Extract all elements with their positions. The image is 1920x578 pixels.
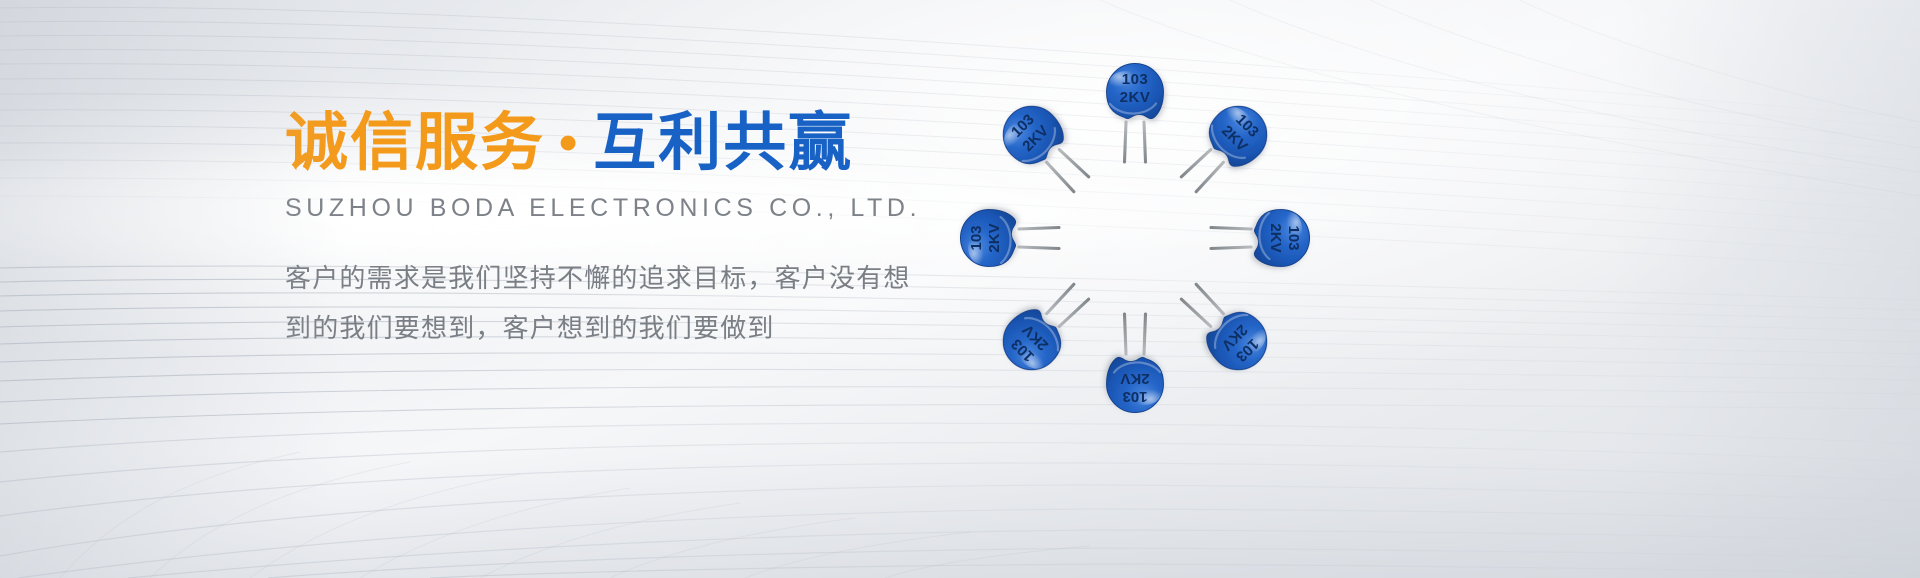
svg-text:2KV: 2KV (1267, 223, 1284, 252)
capacitor-top-right: 103 2KV (1169, 94, 1279, 204)
headline-separator-dot: • (559, 114, 579, 172)
capacitor-top-left: 103 2KV (991, 94, 1101, 204)
hero-text-block: 诚信服务•互利共赢 SUZHOU BODA ELECTRONICS CO., L… (285, 108, 985, 353)
capacitor-right: 103 2KV (1211, 210, 1310, 267)
hero-banner: 诚信服务•互利共赢 SUZHOU BODA ELECTRONICS CO., L… (0, 0, 1920, 578)
svg-text:2KV: 2KV (986, 223, 1003, 252)
headline-part-a: 诚信服务 (285, 108, 545, 178)
page-title: 诚信服务•互利共赢 (285, 108, 985, 179)
svg-text:2KV: 2KV (1120, 370, 1149, 387)
headline-part-b: 互利共赢 (593, 108, 853, 178)
capacitor-left: 103 2KV (961, 210, 1060, 267)
svg-text:103: 103 (1122, 71, 1149, 88)
capacitor-bottom-right: 103 2KV (1169, 272, 1279, 382)
capacitor-top: 103 2KV (1107, 64, 1164, 163)
description-line-2: 到的我们要想到，客户想到的我们要做到 (285, 303, 915, 353)
company-name-english: SUZHOU BODA ELECTRONICS CO., LTD. (285, 194, 985, 223)
description-line-1: 客户的需求是我们坚持不懈的追求目标，客户没有想 (285, 253, 915, 303)
svg-text:2KV: 2KV (1120, 89, 1151, 106)
capacitor-bottom-left: 103 2KV (991, 272, 1101, 382)
svg-text:103: 103 (1285, 225, 1302, 250)
svg-text:103: 103 (968, 225, 985, 250)
svg-text:103: 103 (1122, 388, 1147, 405)
capacitor-bottom: 103 2KV (1107, 314, 1164, 413)
product-image-capacitor-ring: 103 2KV 103 2KV 103 2KV 103 2KV (935, 38, 1335, 438)
hero-description: 客户的需求是我们坚持不懈的追求目标，客户没有想 到的我们要想到，客户想到的我们要… (285, 253, 915, 353)
